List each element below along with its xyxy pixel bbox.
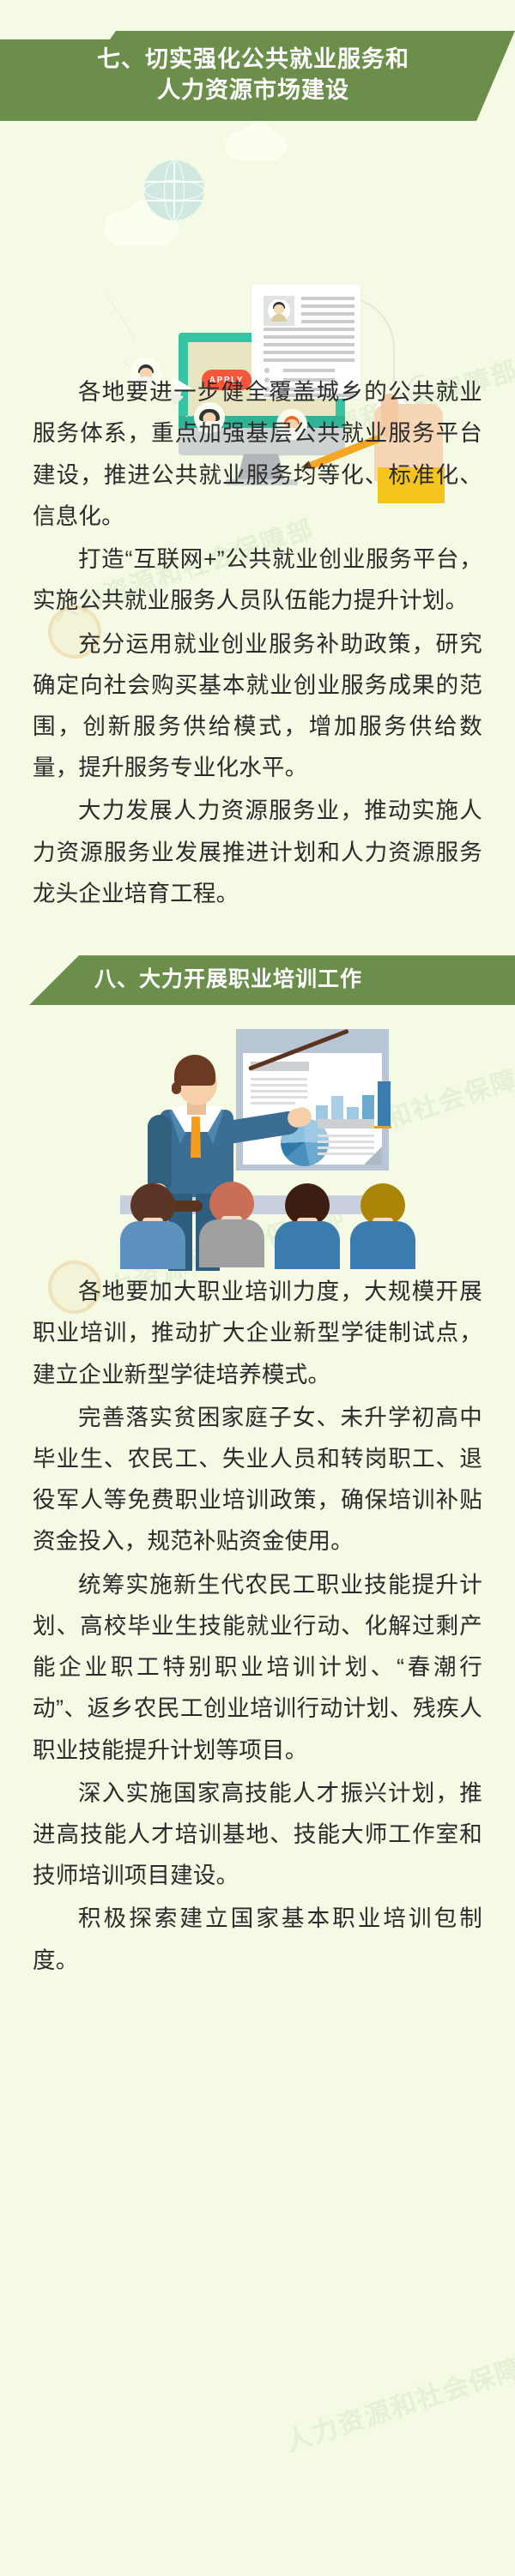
paragraph: 打造“互联网+”公共就业创业服务平台，实施公共就业服务人员队伍能力提升计划。 xyxy=(33,539,482,621)
audience-shoulders xyxy=(199,1219,264,1267)
presenter-left-arm xyxy=(148,1115,172,1194)
audience-shoulders xyxy=(350,1221,415,1269)
paragraph: 深入实施国家高技能人才振兴计划，推进高技能人才培训基地、技能大师工作室和技师培训… xyxy=(33,1773,482,1897)
section-eight-banner: 八、大力开展职业培训工作 xyxy=(0,955,515,1005)
banner-seven: 七、切实强化公共就业服务和 人力资源市场建设 xyxy=(0,31,515,121)
section-eight-body: 各地要加大职业培训力度，大规模开展职业培训，推动扩大企业新型学徒制试点，建立企业… xyxy=(0,1271,515,1981)
resume-text-line xyxy=(301,297,354,300)
resume-text-line xyxy=(264,358,354,362)
bar-chart-bar xyxy=(378,1081,391,1126)
footer-spacer xyxy=(0,1983,515,2008)
board-text-line xyxy=(251,1084,307,1086)
presenter-ear xyxy=(172,1082,181,1094)
paragraph: 充分运用就业创业服务补助政策，研究确定向社会购买基本就业创业服务成果的范围，创新… xyxy=(33,623,482,789)
infographic-page: 人力资源和社会保障部 人力资源和社会保障部 人力资源和社会保障部 人力资源和社会… xyxy=(0,0,515,2576)
resume-text-line xyxy=(301,320,354,323)
paragraph: 统筹实施新生代农民工职业技能提升计划、高校毕业生技能就业行动、化解过剩产能企业职… xyxy=(33,1564,482,1771)
banner-eight-line-1: 八、大力开展职业培训工作 xyxy=(94,966,489,994)
board-text-line xyxy=(318,1135,374,1137)
section-seven-banner: 七、切实强化公共就业服务和 人力资源市场建设 xyxy=(0,31,515,121)
globe-gridline xyxy=(173,162,175,219)
banner-eight: 八、大力开展职业培训工作 xyxy=(0,955,515,1005)
paragraph: 各地要进一步健全覆盖城乡的公共就业服务体系，重点加强基层公共就业服务平台建设，推… xyxy=(33,371,482,537)
presenter-hair xyxy=(174,1055,215,1086)
banner-seven-line-2: 人力资源市场建设 xyxy=(51,75,455,106)
board-text-line xyxy=(251,1102,295,1104)
board-text-line xyxy=(318,1153,374,1155)
audience-shoulders xyxy=(275,1221,340,1269)
watermark-text: 人力资源和社会保障部 xyxy=(280,2338,515,2459)
resume-text-line xyxy=(264,351,354,354)
paragraph: 完善落实贫困家庭子女、未升学初高中毕业生、农民工、失业人员和转岗职工、退役军人等… xyxy=(33,1397,482,1562)
resume-text-line xyxy=(301,304,354,308)
section-seven-body: 各地要进一步健全覆盖城乡的公共就业服务体系，重点加强基层公共就业服务平台建设，推… xyxy=(0,371,515,914)
board-text-line xyxy=(251,1078,307,1080)
online-job-application-illustration: APPLY xyxy=(0,121,515,371)
board-text-line xyxy=(318,1147,374,1149)
vocational-training-illustration xyxy=(0,1005,515,1271)
board-text-line xyxy=(251,1096,307,1098)
paragraph: 积极探索建立国家基本职业培训包制度。 xyxy=(33,1898,482,1980)
audience-shoulders xyxy=(120,1221,185,1269)
resume-text-line xyxy=(264,343,354,346)
paragraph: 大力发展人力资源服务业，推动实施人力资源服务业发展推进计划和人力资源服务龙头企业… xyxy=(33,790,482,914)
resume-text-line xyxy=(264,328,354,331)
avatar-body xyxy=(271,314,287,322)
banner-seven-line-1: 七、切实强化公共就业服务和 xyxy=(51,45,455,75)
paragraph: 各地要加大职业培训力度，大规模开展职业培训，推动扩大企业新型学徒制试点，建立企业… xyxy=(33,1271,482,1395)
connector-dashed-line xyxy=(106,294,136,340)
board-heading-bar xyxy=(318,1119,374,1129)
board-text-line xyxy=(318,1141,374,1143)
resume-text-line xyxy=(264,335,354,339)
resume-text-line xyxy=(301,312,354,316)
board-text-line xyxy=(251,1090,307,1092)
presenter-necktie xyxy=(191,1116,201,1158)
cloud-puff-icon xyxy=(242,123,275,152)
